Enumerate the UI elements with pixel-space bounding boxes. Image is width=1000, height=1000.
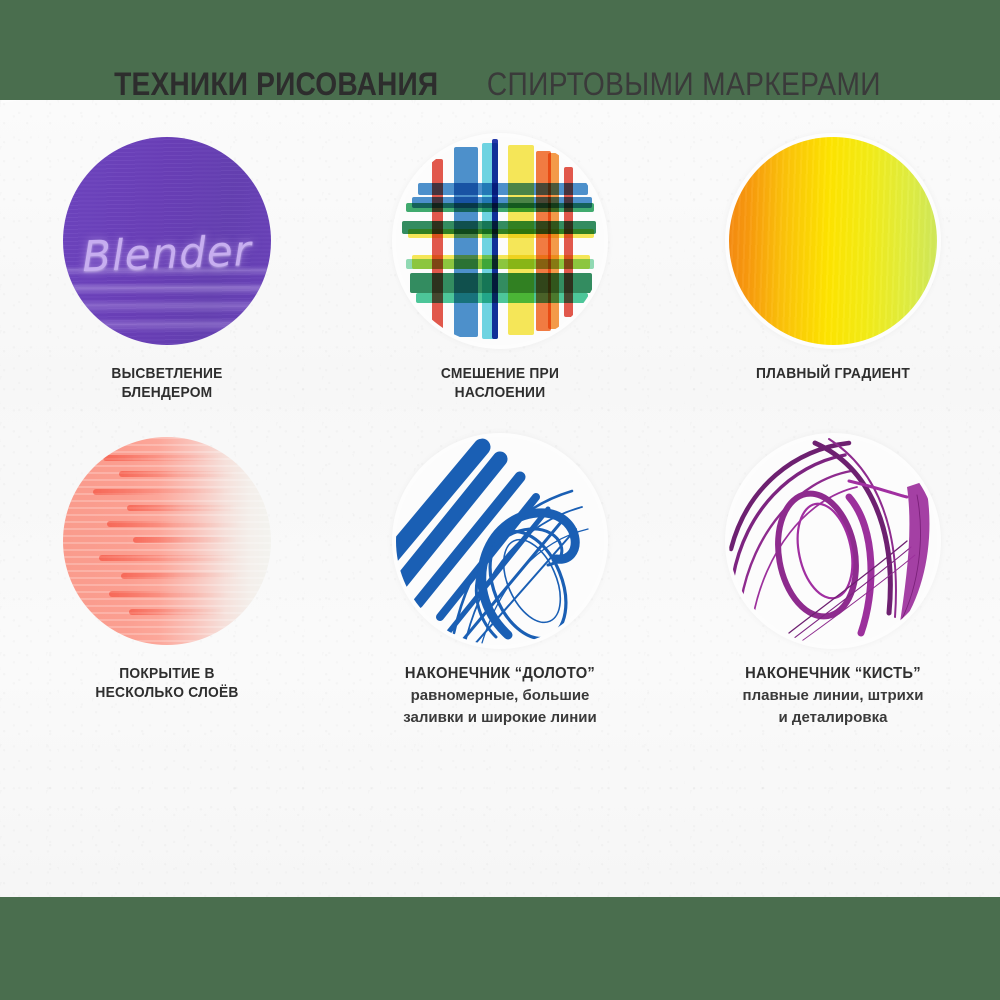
caption-line-1: НАКОНЕЧНИК “ДОЛОТО” — [361, 664, 639, 684]
caption-sub-2: и деталировка — [682, 708, 984, 728]
sample-disc-chisel — [396, 437, 604, 645]
title-light: СПИРТОВЫМИ МАРКЕРАМИ — [487, 68, 881, 100]
sample-disc-crosshatch — [396, 137, 604, 345]
technique-card-brush-nib: НАКОНЕЧНИК “КИСТЬ” плавные линии, штрихи… — [666, 430, 1000, 727]
sample-disc-blender: Blender — [63, 137, 271, 345]
sample-disc-gradient — [729, 137, 937, 345]
caption-blender: ВЫСВЕТЛЕНИЕ БЛЕНДЕРОМ — [0, 364, 334, 402]
caption-chisel-nib: НАКОНЕЧНИК “ДОЛОТО” равномерные, большие… — [333, 664, 667, 727]
sample-wrap — [666, 130, 1000, 352]
technique-card-multiple-layers: ПОКРЫТИЕ В НЕСКОЛЬКО СЛОЁВ — [0, 430, 334, 702]
caption-line-2: НАСЛОЕНИИ — [361, 383, 639, 402]
sample-wrap: Blender — [0, 130, 334, 352]
technique-card-layered-mixing: СМЕШЕНИЕ ПРИ НАСЛОЕНИИ — [333, 130, 667, 402]
technique-card-chisel-nib: НАКОНЕЧНИК “ДОЛОТО” равномерные, большие… — [333, 430, 667, 727]
caption-line-1: ПЛАВНЫЙ ГРАДИЕНТ — [694, 364, 972, 383]
crosshatch-strokes — [396, 137, 604, 345]
caption-brush-nib: НАКОНЕЧНИК “КИСТЬ” плавные линии, штрихи… — [666, 664, 1000, 727]
bottom-frame-band — [0, 897, 1000, 1000]
caption-line-1: ПОКРЫТИЕ В — [28, 664, 306, 683]
sample-wrap — [666, 430, 1000, 652]
caption-line-1: НАКОНЕЧНИК “КИСТЬ” — [694, 664, 972, 684]
caption-line-1: ВЫСВЕТЛЕНИЕ — [28, 364, 306, 383]
poster-root: ТЕХНИКИ РИСОВАНИЯ СПИРТОВЫМИ МАРКЕРАМИ B… — [0, 0, 1000, 1000]
technique-card-smooth-gradient: ПЛАВНЫЙ ГРАДИЕНТ — [666, 130, 1000, 383]
blender-handwriting: Blender — [63, 225, 271, 281]
page-title: ТЕХНИКИ РИСОВАНИЯ СПИРТОВЫМИ МАРКЕРАМИ — [0, 68, 1000, 100]
sample-wrap — [333, 130, 667, 352]
caption-sub-1: равномерные, большие — [349, 686, 651, 706]
sample-wrap — [0, 430, 334, 652]
caption-line-2: БЛЕНДЕРОМ — [28, 383, 306, 402]
chisel-stroke-art — [396, 437, 604, 645]
caption-line-1: СМЕШЕНИЕ ПРИ — [361, 364, 639, 383]
caption-sub-2: заливки и широкие линии — [349, 708, 651, 728]
technique-card-blender: Blender ВЫСВЕТЛЕНИЕ БЛЕНДЕРОМ — [0, 130, 334, 402]
gradient-fill — [729, 137, 937, 345]
pink-ink-fill — [63, 437, 271, 645]
caption-smooth-gradient: ПЛАВНЫЙ ГРАДИЕНТ — [666, 364, 1000, 383]
caption-layered-mixing: СМЕШЕНИЕ ПРИ НАСЛОЕНИИ — [333, 364, 667, 402]
sample-disc-layers — [63, 437, 271, 645]
sample-wrap — [333, 430, 667, 652]
title-strong: ТЕХНИКИ РИСОВАНИЯ — [114, 68, 438, 100]
caption-multiple-layers: ПОКРЫТИЕ В НЕСКОЛЬКО СЛОЁВ — [0, 664, 334, 702]
brush-stroke-art — [729, 437, 937, 645]
sample-disc-brush — [729, 437, 937, 645]
caption-sub-1: плавные линии, штрихи — [682, 686, 984, 706]
caption-line-2: НЕСКОЛЬКО СЛОЁВ — [28, 683, 306, 702]
